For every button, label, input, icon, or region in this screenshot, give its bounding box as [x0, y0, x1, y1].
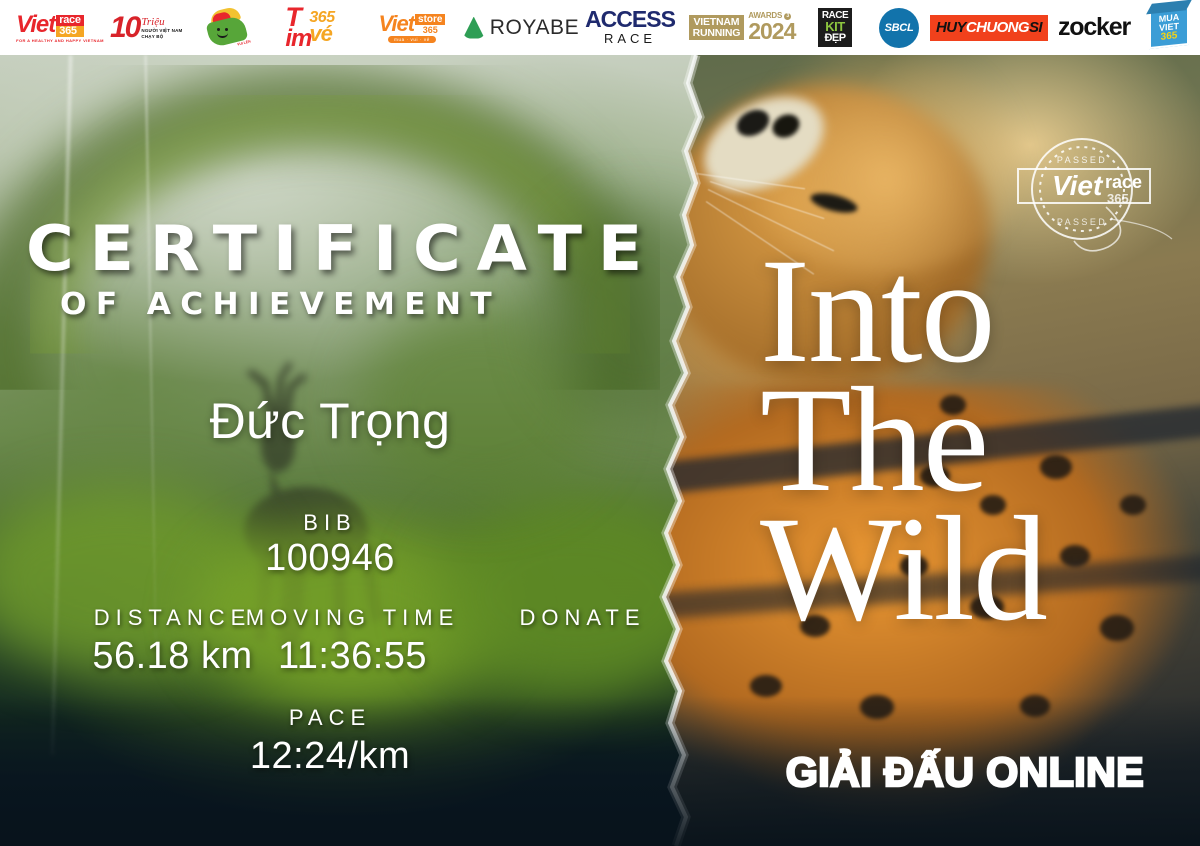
- sponsor-logo-access-race: ACCESS RACE: [580, 6, 680, 50]
- vietstore-tagline: mua · vui · vẻ: [388, 36, 436, 43]
- sponsor-logo-vietrace365: Viet race 365 FOR A HEALTHY AND HAPPY VI…: [10, 6, 110, 50]
- stamp-brand-viet: Viet: [1052, 170, 1104, 201]
- vietrace-viet-text: Viet: [16, 13, 55, 37]
- sponsor-logo-timve365: T im 365 vé: [258, 6, 362, 50]
- royabe-mark-icon: [463, 17, 485, 39]
- sponsor-logo-bar: Viet race 365 FOR A HEALTHY AND HAPPY VI…: [0, 0, 1200, 55]
- ten-million-tagline: NGƯỜI VIỆT NAM CHẠY BỘ: [141, 28, 196, 39]
- page-subtitle: OF ACHIEVEMENT: [60, 290, 501, 320]
- access-race-text: RACE: [604, 31, 656, 48]
- certificate-canvas: CERTIFICATE OF ACHIEVEMENT Đức Trọng BIB…: [0, 55, 1200, 846]
- sponsor-logo-mascot: VUI LÊN: [196, 6, 258, 50]
- certificate-page: Viet race 365 FOR A HEALTHY AND HAPPY VI…: [0, 0, 1200, 846]
- sponsor-logo-sbcl: SBCL: [866, 6, 932, 50]
- sponsor-logo-vietstore365: Viet store 365 mua · vui · vẻ: [362, 6, 462, 50]
- trieu-text: Triệu: [141, 16, 196, 28]
- bib-label: BIB: [0, 510, 660, 536]
- vra-vietnam-text: VIETNAM: [693, 17, 739, 28]
- sponsor-logo-race-kit-dep: RACE KIT ĐẸP: [804, 6, 866, 50]
- ten-million-number: 10: [110, 15, 139, 41]
- vietrace-365-text: 365: [56, 26, 83, 37]
- moving-time-value: 11:36:55: [180, 635, 525, 678]
- hcs-huy-text: HUY: [936, 19, 966, 36]
- vietrace-race-text: race: [56, 15, 83, 26]
- sponsor-logo-royabe: ROYABE: [462, 6, 580, 50]
- bib-value: 100946: [0, 537, 660, 580]
- stamp-passed-bottom: PASSED: [1057, 217, 1107, 227]
- sponsor-logo-mua-viet-365: MUA VIET 365: [1142, 6, 1196, 50]
- vietstore-365-text: 365: [415, 25, 445, 35]
- sponsor-logo-huy-chuong-si: HUYCHUONGSI: [932, 6, 1046, 50]
- rkd-dep-text: ĐẸP: [824, 33, 845, 43]
- mv-365-text: 365: [1161, 31, 1178, 43]
- timve-ve-text: vé: [309, 25, 334, 44]
- athlete-name: Đức Trọng: [0, 392, 660, 450]
- vietstore-store-text: store: [415, 14, 445, 25]
- vra-year-value: 2024: [748, 20, 795, 43]
- event-tagline: GIẢI ĐẤU ONLINE: [755, 749, 1175, 796]
- sbcl-text: SBCL: [885, 22, 914, 34]
- sponsor-logo-10-trieu: 10 Triệu NGƯỜI VIỆT NAM CHẠY BỘ: [110, 6, 196, 50]
- vra-running-text: RUNNING: [693, 28, 741, 39]
- passed-stamp: PASSED PASSED Viet race 365: [1010, 133, 1175, 253]
- page-title: CERTIFICATE: [26, 218, 658, 280]
- access-text: ACCESS: [585, 8, 675, 31]
- mascot-icon: VUI LÊN: [204, 9, 250, 47]
- sponsor-logo-vietnam-running-awards: VIETNAM RUNNING AWARDS 3 2024: [680, 6, 804, 50]
- stamp-brand-365: 365: [1107, 191, 1129, 206]
- sponsor-logo-zocker: zocker: [1046, 6, 1142, 50]
- timve-im-text: im: [285, 29, 311, 49]
- donate-label: DONATE: [410, 605, 755, 631]
- event-title-line-3: Wild: [760, 505, 1180, 634]
- vra-year-text: 2024: [748, 20, 795, 43]
- vietrace-tagline: FOR A HEALTHY AND HAPPY VIETNAM: [16, 38, 104, 43]
- zocker-text: zocker: [1058, 13, 1130, 42]
- stamp-passed-top: PASSED: [1057, 155, 1107, 165]
- royabe-text: ROYABE: [490, 16, 580, 40]
- vietstore-viet-text: Viet: [379, 13, 415, 35]
- hcs-si-text: SI: [1029, 19, 1042, 36]
- event-title: Into The Wild: [760, 247, 1180, 634]
- hcs-chuong-text: CHUONG: [966, 19, 1029, 36]
- pace-label: PACE: [0, 705, 660, 731]
- stamp-brand-race: race: [1105, 172, 1142, 192]
- pace-value: 12:24/km: [0, 735, 660, 778]
